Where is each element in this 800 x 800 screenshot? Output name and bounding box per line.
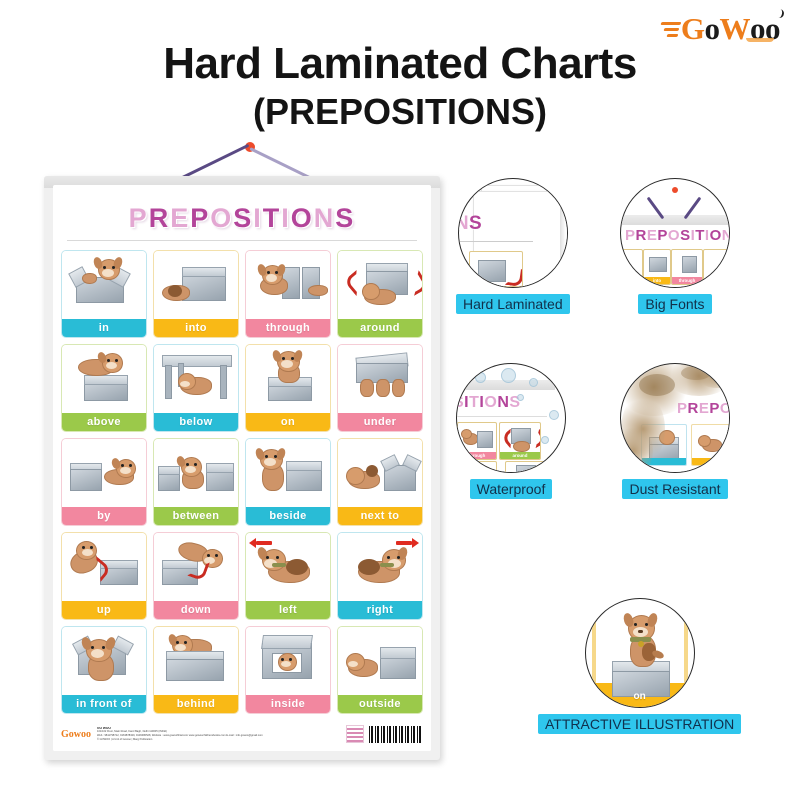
dog-below-table — [154, 345, 238, 413]
dog-on-box — [246, 345, 330, 413]
feature-big-fonts[interactable]: PREPOSITIONS into through Big Fonts — [620, 178, 730, 314]
preposition-label: around — [338, 319, 422, 337]
preposition-label: by — [62, 507, 146, 525]
preposition-label: between — [154, 507, 238, 525]
preposition-card[interactable]: behind — [153, 626, 239, 714]
feature-caption: ATTRACTIVE ILLUSTRATION — [538, 714, 741, 734]
dog-above-box — [62, 345, 146, 413]
preposition-label: into — [154, 319, 238, 337]
title-letter-7: T — [263, 203, 282, 233]
preposition-card[interactable]: around — [337, 250, 423, 338]
mini-label-through: through — [672, 277, 702, 284]
title-letter-9: O — [291, 203, 314, 233]
feature-caption: Waterproof — [470, 479, 553, 499]
page-title: Hard Laminated Charts (PREPOSITIONS) — [0, 38, 800, 134]
preposition-label: in — [62, 319, 146, 337]
preposition-card[interactable]: in front of — [61, 626, 147, 714]
title-letter-5: S — [233, 203, 253, 233]
dog-inside-box — [246, 627, 330, 695]
preposition-label: up — [62, 601, 146, 619]
preposition-card[interactable]: in — [61, 250, 147, 338]
footer-address-3: © GOWOO | A Unit of Gowoo | Marg Publica… — [97, 738, 152, 741]
dog-beside-box — [246, 439, 330, 507]
preposition-card[interactable]: next to — [337, 438, 423, 526]
headline-line-2: (PREPOSITIONS) — [0, 90, 800, 134]
preposition-card-grid: inintothrougharoundabovebelowonunderbybe… — [61, 250, 423, 714]
preposition-label: under — [338, 413, 422, 431]
title-divider — [67, 240, 417, 241]
dog-jumping-up — [62, 533, 146, 601]
dust-icon: PREPOS — [620, 363, 730, 473]
preposition-label: outside — [338, 695, 422, 713]
preposition-card[interactable]: inside — [245, 626, 331, 714]
feature-caption: Dust Resistant — [622, 479, 727, 499]
footer-address-2: Web : 9811798712, 9163878329, 9136480528… — [97, 734, 263, 737]
preposition-card[interactable]: beside — [245, 438, 331, 526]
preposition-card[interactable]: above — [61, 344, 147, 432]
dog-behind-box — [154, 627, 238, 695]
preposition-card[interactable]: down — [153, 532, 239, 620]
preposition-card[interactable]: up — [61, 532, 147, 620]
big-fonts-icon: PREPOSITIONS into through — [620, 178, 730, 288]
crop-title-2: PREPOSITIONS — [625, 227, 730, 244]
preposition-label: on — [246, 413, 330, 431]
dog-facing-right — [338, 533, 422, 601]
qr-code — [346, 725, 364, 743]
crop-title-3: SITIONS — [456, 394, 521, 412]
preposition-card[interactable]: outside — [337, 626, 423, 714]
footer-logo: Gowoo — [61, 729, 91, 740]
title-letter-4: O — [210, 203, 233, 233]
water-droplets-icon: SITIONS through around — [456, 363, 566, 473]
preposition-label: next to — [338, 507, 422, 525]
title-letter-8: I — [281, 203, 291, 233]
dog-in-box — [62, 251, 146, 319]
laminated-sheet-icon: NS — [458, 178, 568, 288]
dog-around-box — [338, 251, 422, 319]
footer-address: GO WOO 101/102 Floor, Main Road, Karol B… — [97, 727, 346, 741]
title-letter-10: N — [314, 203, 336, 233]
mini-label-around: around — [500, 452, 540, 459]
dog-next-to-box — [338, 439, 422, 507]
poster-content: PREPOSITIONS inintothrougharoundabovebel… — [53, 185, 431, 751]
preposition-label: above — [62, 413, 146, 431]
poster-title: PREPOSITIONS — [53, 203, 431, 234]
mini-label-through: through — [458, 452, 496, 459]
preposition-label: left — [246, 601, 330, 619]
title-letter-2: E — [170, 203, 190, 233]
dog-jumping-down — [154, 533, 238, 601]
preposition-label: right — [338, 601, 422, 619]
poster-footer: Gowoo GO WOO 101/102 Floor, Main Road, K… — [53, 717, 431, 751]
feature-waterproof[interactable]: SITIONS through around — [456, 363, 566, 499]
footer-address-1: 101/102 Floor, Main Road, Karol Bagh, De… — [97, 730, 167, 733]
preposition-card[interactable]: between — [153, 438, 239, 526]
dog-by-box — [62, 439, 146, 507]
feature-caption: Hard Laminated — [456, 294, 570, 314]
preposition-card[interactable]: through — [245, 250, 331, 338]
preposition-label: down — [154, 601, 238, 619]
title-letter-3: P — [190, 203, 210, 233]
dog-through-box — [246, 251, 330, 319]
mini-label-into: into — [644, 277, 670, 284]
dog-facing-left — [246, 533, 330, 601]
dog-in-front-of-box — [62, 627, 146, 695]
barcode — [369, 726, 423, 743]
dog-on-box-icon: on — [585, 598, 695, 708]
feature-dust-resistant[interactable]: PREPOS Dust Resistant — [620, 363, 730, 499]
preposition-card[interactable]: right — [337, 532, 423, 620]
preposition-label: inside — [246, 695, 330, 713]
preposition-label: through — [246, 319, 330, 337]
preposition-label: below — [154, 413, 238, 431]
preposition-card[interactable]: into — [153, 250, 239, 338]
preposition-card[interactable]: left — [245, 532, 331, 620]
preposition-label: beside — [246, 507, 330, 525]
preposition-label: in front of — [62, 695, 146, 713]
headline-line-1: Hard Laminated Charts — [0, 38, 800, 90]
speed-lines-icon — [661, 17, 683, 39]
preposition-card[interactable]: below — [153, 344, 239, 432]
title-letter-1: R — [149, 203, 171, 233]
feature-attractive-illustration[interactable]: on ATTRACTIVE ILLUSTRATION — [538, 598, 741, 734]
prepositions-poster[interactable]: PREPOSITIONS inintothrougharoundabovebel… — [44, 176, 440, 760]
preposition-card[interactable]: on — [245, 344, 331, 432]
dog-outside-box — [338, 627, 422, 695]
preposition-label: behind — [154, 695, 238, 713]
feature-caption: Big Fonts — [638, 294, 711, 314]
crop-title-5: on — [586, 692, 694, 702]
feature-hard-laminated[interactable]: NS Hard Laminated — [456, 178, 570, 314]
title-letter-6: I — [253, 203, 263, 233]
dog-under-box — [338, 345, 422, 413]
title-letter-11: S — [335, 203, 355, 233]
dog-into-box — [154, 251, 238, 319]
preposition-card[interactable]: by — [61, 438, 147, 526]
title-letter-0: P — [129, 203, 149, 233]
preposition-card[interactable]: under — [337, 344, 423, 432]
crop-title-1: NS — [458, 213, 482, 235]
dog-between-boxes — [154, 439, 238, 507]
